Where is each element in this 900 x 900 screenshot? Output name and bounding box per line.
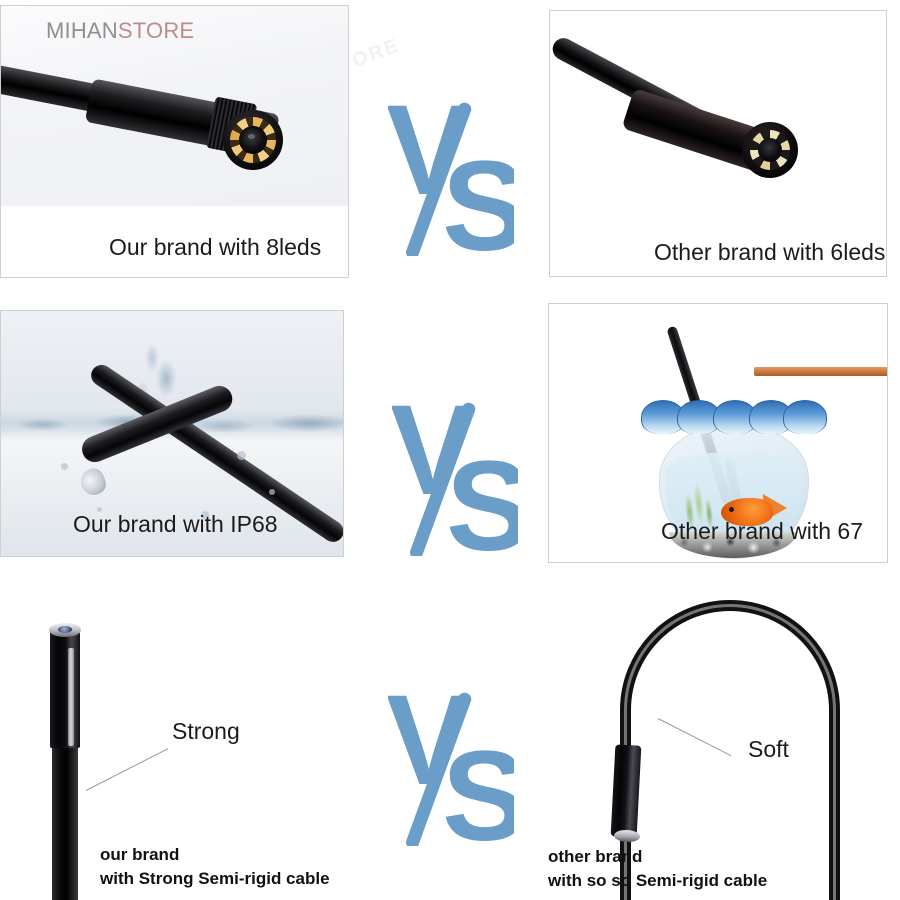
vs-divider-3: V S bbox=[388, 676, 514, 846]
panel-ours-8leds: Our brand with 8leds bbox=[0, 5, 349, 278]
goldfish-eye bbox=[729, 507, 734, 512]
water-droplet bbox=[269, 489, 275, 495]
probe-lens bbox=[58, 626, 72, 633]
brand-watermark-part2: STORE bbox=[118, 18, 194, 43]
caption-ours-8leds: Our brand with 8leds bbox=[109, 234, 321, 261]
probe-tip bbox=[77, 465, 109, 498]
chrome-highlight bbox=[68, 648, 74, 746]
orange-bar bbox=[754, 367, 888, 376]
label-other-cable: with so so Semi-rigid cable bbox=[548, 870, 767, 891]
vs-icon: V S bbox=[388, 676, 514, 846]
callout-soft: Soft bbox=[748, 736, 789, 763]
bowl-ruffled-rim bbox=[641, 400, 827, 442]
infographic-page: MIHANSTORE MIHANSTORE MIHANSTORE MIHANST… bbox=[0, 0, 900, 900]
callout-leader-line bbox=[86, 748, 168, 791]
photo-other-camera-head bbox=[550, 11, 886, 276]
water-droplet bbox=[237, 451, 246, 460]
probe-head-body bbox=[611, 744, 642, 837]
vs-icon: V S bbox=[388, 86, 514, 256]
panel-ours-ip68: Our brand with IP68 bbox=[0, 310, 344, 557]
cable-gloss-highlight bbox=[624, 604, 836, 900]
label-ours-brand: our brand bbox=[100, 844, 179, 865]
panel-ours-rigid-cable: Strong our brand with Strong Semi-rigid … bbox=[0, 590, 360, 900]
panel-other-6leds: Other brand with 6leds bbox=[549, 10, 887, 277]
lens-glint bbox=[248, 134, 255, 139]
rigid-cable-shaft bbox=[52, 740, 78, 900]
svg-text:S: S bbox=[442, 135, 514, 256]
vs-icon: V S bbox=[392, 386, 518, 556]
probe-head-body bbox=[50, 630, 80, 748]
panel-other-67: Other brand with 67 bbox=[548, 303, 888, 563]
camera-lens bbox=[239, 126, 267, 154]
svg-text:S: S bbox=[442, 725, 514, 846]
water-droplet bbox=[61, 463, 68, 470]
caption-other-67: Other brand with 67 bbox=[661, 518, 863, 545]
panel-other-soft-cable: Soft other brand with so so Semi-rigid c… bbox=[520, 590, 900, 900]
vs-divider-1: V S bbox=[388, 86, 514, 256]
brand-watermark: MIHANSTORE bbox=[46, 18, 194, 44]
rim-wave bbox=[783, 400, 827, 434]
camera-lens bbox=[758, 138, 782, 162]
label-other-brand: other brand bbox=[548, 846, 642, 867]
callout-strong: Strong bbox=[172, 718, 240, 745]
svg-text:S: S bbox=[446, 435, 518, 556]
caption-ours-ip68: Our brand with IP68 bbox=[73, 511, 278, 538]
label-ours-cable: with Strong Semi-rigid cable bbox=[100, 868, 330, 889]
caption-other-6leds: Other brand with 6leds bbox=[654, 239, 885, 266]
vs-divider-2: V S bbox=[392, 386, 518, 556]
brand-watermark-part1: MIHAN bbox=[46, 18, 118, 43]
